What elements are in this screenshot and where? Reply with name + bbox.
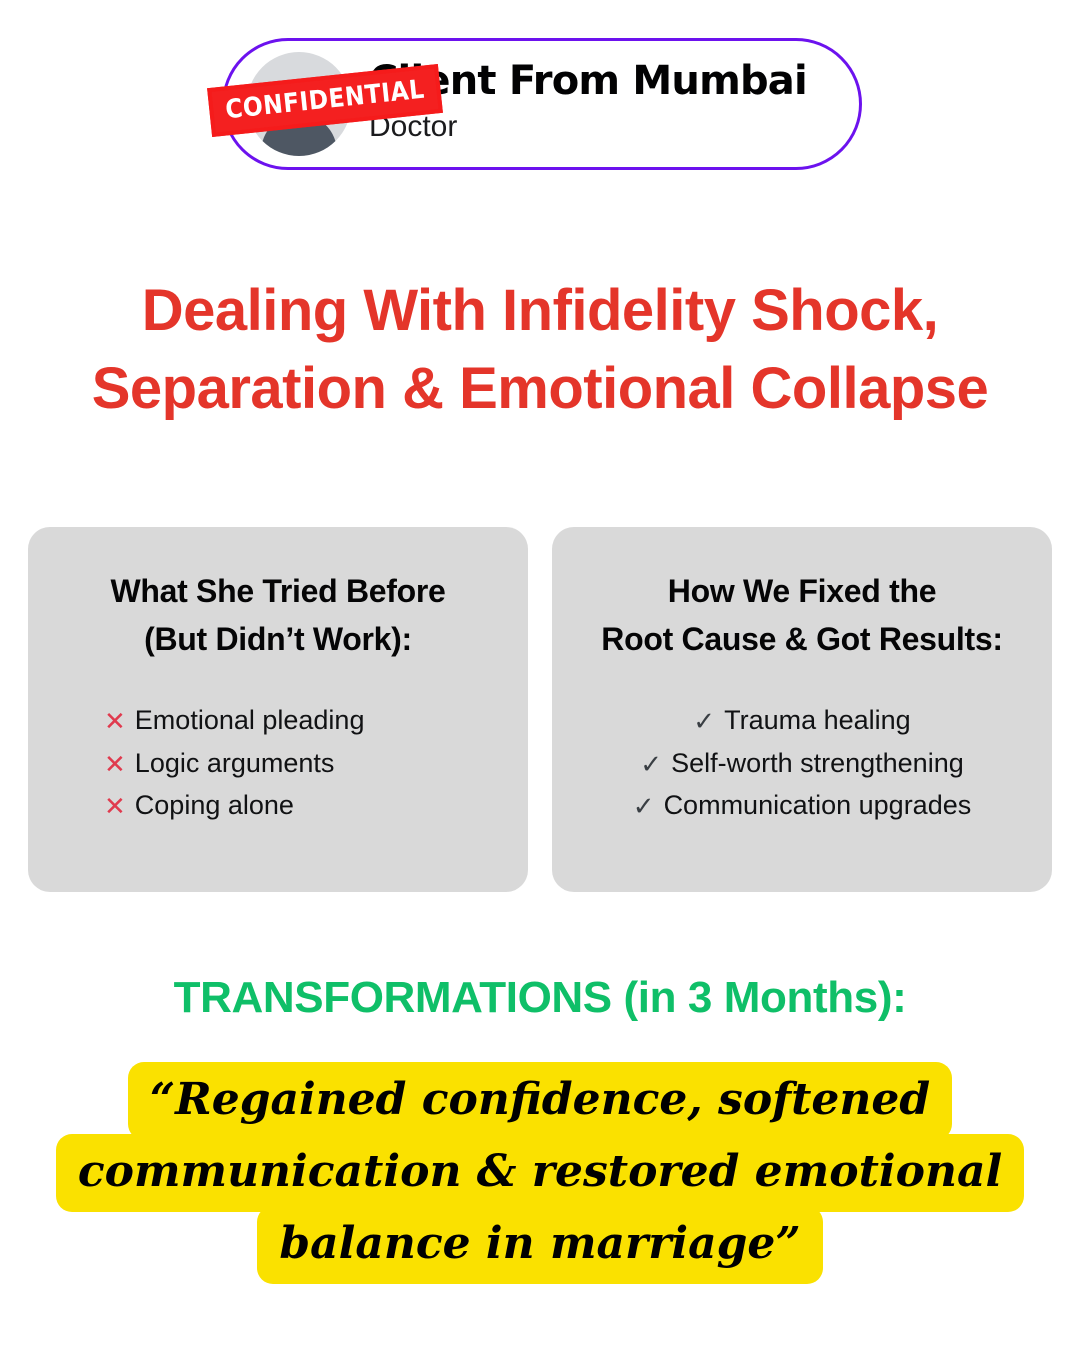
testimonial-poster: CONFIDENTIAL Client From Mumbai Doctor D… — [0, 0, 1080, 1350]
list-item: ✓ Communication upgrades — [576, 784, 1028, 827]
list-item: ✓ Trauma healing — [576, 699, 1028, 742]
cross-icon: ✕ — [104, 794, 126, 820]
comparison-cards: What She Tried Before (But Didn’t Work):… — [28, 527, 1052, 892]
card-title-right-line-2: Root Cause & Got Results: — [576, 615, 1028, 663]
avatar: CONFIDENTIAL — [247, 52, 351, 156]
testimonial-quote: “Regained confidence, softened communica… — [40, 1062, 1040, 1284]
quote-line-1: “Regained confidence, softened — [40, 1062, 1040, 1140]
list-item-label: Emotional pleading — [135, 699, 365, 742]
quote-line-2-text: communication & restored emotional — [56, 1134, 1024, 1212]
card-title-right-line-1: How We Fixed the — [576, 567, 1028, 615]
cross-icon: ✕ — [104, 752, 126, 778]
solutions-list: ✓ Trauma healing ✓ Self-worth strengthen… — [576, 699, 1028, 827]
quote-line-3: balance in marriage” — [40, 1206, 1040, 1284]
cross-icon: ✕ — [104, 709, 126, 735]
list-item-label: Logic arguments — [135, 742, 335, 785]
list-item: ✕ Coping alone — [52, 784, 504, 827]
list-item: ✓ Self-worth strengthening — [576, 742, 1028, 785]
card-title-left-line-2: (But Didn’t Work): — [52, 615, 504, 663]
list-item: ✕ Logic arguments — [52, 742, 504, 785]
quote-line-2: communication & restored emotional — [40, 1134, 1040, 1212]
card-title-left-line-1: What She Tried Before — [52, 567, 504, 615]
page-title-line-1: Dealing With Infidelity Shock, — [40, 272, 1040, 350]
card-what-she-tried-before: What She Tried Before (But Didn’t Work):… — [28, 527, 528, 892]
transformations-heading: TRANSFORMATIONS (in 3 Months): — [40, 972, 1040, 1025]
list-item: ✕ Emotional pleading — [52, 699, 504, 742]
check-icon: ✓ — [633, 794, 655, 820]
quote-line-1-text: “Regained confidence, softened — [128, 1062, 952, 1140]
check-icon: ✓ — [693, 709, 715, 735]
list-item-label: Coping alone — [135, 784, 294, 827]
page-title-line-2: Separation & Emotional Collapse — [40, 350, 1040, 428]
page-title: Dealing With Infidelity Shock, Separatio… — [40, 272, 1040, 429]
failed-attempts-list: ✕ Emotional pleading ✕ Logic arguments ✕… — [52, 699, 504, 827]
list-item-label: Trauma healing — [724, 699, 911, 742]
list-item-label: Self-worth strengthening — [671, 742, 964, 785]
check-icon: ✓ — [640, 752, 662, 778]
quote-line-3-text: balance in marriage” — [257, 1206, 822, 1284]
list-item-label: Communication upgrades — [664, 784, 972, 827]
client-header-badge: CONFIDENTIAL Client From Mumbai Doctor — [222, 38, 862, 170]
card-title-right: How We Fixed the Root Cause & Got Result… — [576, 567, 1028, 663]
card-title-left: What She Tried Before (But Didn’t Work): — [52, 567, 504, 663]
card-how-we-fixed-it: How We Fixed the Root Cause & Got Result… — [552, 527, 1052, 892]
